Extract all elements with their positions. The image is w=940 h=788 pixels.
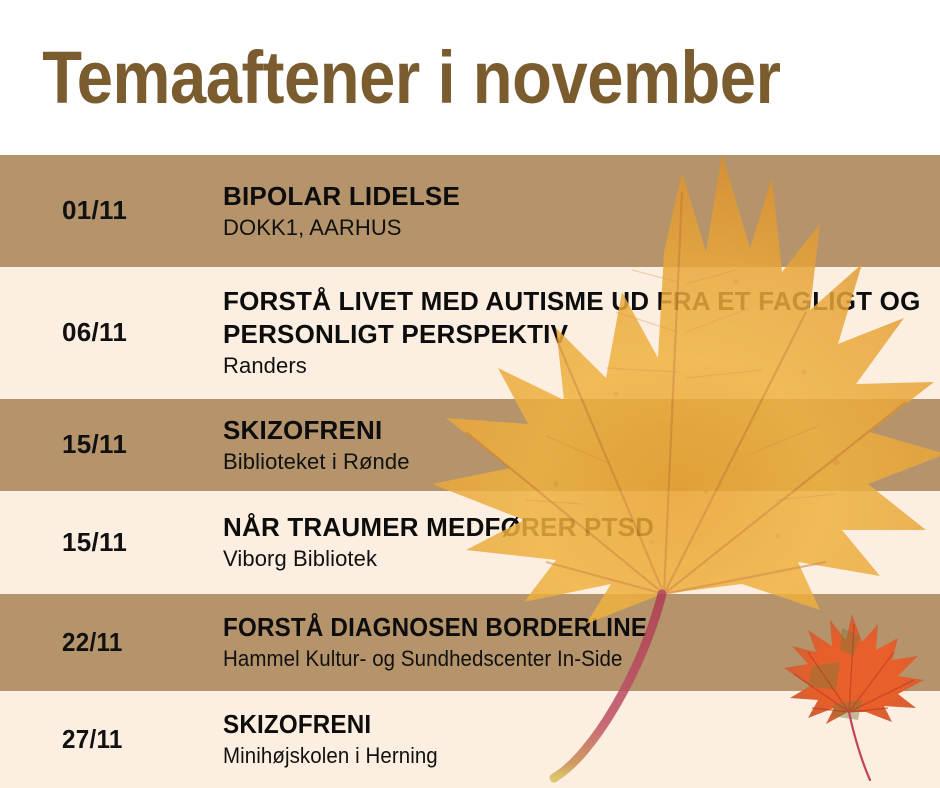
event-title: NÅR TRAUMER MEDFØRER PTSD xyxy=(223,511,940,543)
page-title: Temaaftener i november xyxy=(0,41,780,115)
event-date: 27/11 xyxy=(62,725,212,755)
event-body: FORSTÅ DIAGNOSEN BORDERLINE Hammel Kultu… xyxy=(223,611,940,674)
event-title: BIPOLAR LIDELSE xyxy=(223,180,940,212)
poster-header: Temaaftener i november xyxy=(0,0,940,155)
event-venue: Randers xyxy=(223,352,940,381)
event-venue: Minihøjskolen i Herning xyxy=(223,742,890,771)
event-date: 15/11 xyxy=(62,528,223,558)
event-date: 22/11 xyxy=(62,628,212,658)
event-venue: Hammel Kultur- og Sundhedscenter In-Side xyxy=(223,645,890,674)
list-item[interactable]: 06/11 FORSTÅ LIVET MED AUTISME UD FRA ET… xyxy=(0,267,940,399)
list-item[interactable]: 01/11 BIPOLAR LIDELSE DOKK1, AARHUS xyxy=(0,155,940,267)
event-body: SKIZOFRENI Minihøjskolen i Herning xyxy=(223,708,940,771)
event-title: FORSTÅ DIAGNOSEN BORDERLINE xyxy=(223,611,890,643)
event-poster: Temaaftener i november 01/11 BIPOLAR LID… xyxy=(0,0,940,788)
event-body: FORSTÅ LIVET MED AUTISME UD FRA ET FAGLI… xyxy=(223,285,940,380)
event-venue: Biblioteket i Rønde xyxy=(223,448,940,477)
event-title: FORSTÅ LIVET MED AUTISME UD FRA ET FAGLI… xyxy=(223,285,940,349)
list-item[interactable]: 27/11 SKIZOFRENI Minihøjskolen i Herning xyxy=(0,691,940,788)
list-item[interactable]: 15/11 NÅR TRAUMER MEDFØRER PTSD Viborg B… xyxy=(0,491,940,594)
event-title: SKIZOFRENI xyxy=(223,414,940,446)
event-body: NÅR TRAUMER MEDFØRER PTSD Viborg Bibliot… xyxy=(223,511,940,574)
event-date: 15/11 xyxy=(62,430,223,460)
event-list: 01/11 BIPOLAR LIDELSE DOKK1, AARHUS 06/1… xyxy=(0,155,940,788)
event-date: 01/11 xyxy=(62,196,223,226)
event-body: BIPOLAR LIDELSE DOKK1, AARHUS xyxy=(223,180,940,243)
event-date: 06/11 xyxy=(62,318,223,348)
event-venue: Viborg Bibliotek xyxy=(223,545,940,574)
event-title: SKIZOFRENI xyxy=(223,708,890,740)
event-body: SKIZOFRENI Biblioteket i Rønde xyxy=(223,414,940,477)
list-item[interactable]: 22/11 FORSTÅ DIAGNOSEN BORDERLINE Hammel… xyxy=(0,594,940,691)
event-venue: DOKK1, AARHUS xyxy=(223,214,940,243)
list-item[interactable]: 15/11 SKIZOFRENI Biblioteket i Rønde xyxy=(0,399,940,491)
